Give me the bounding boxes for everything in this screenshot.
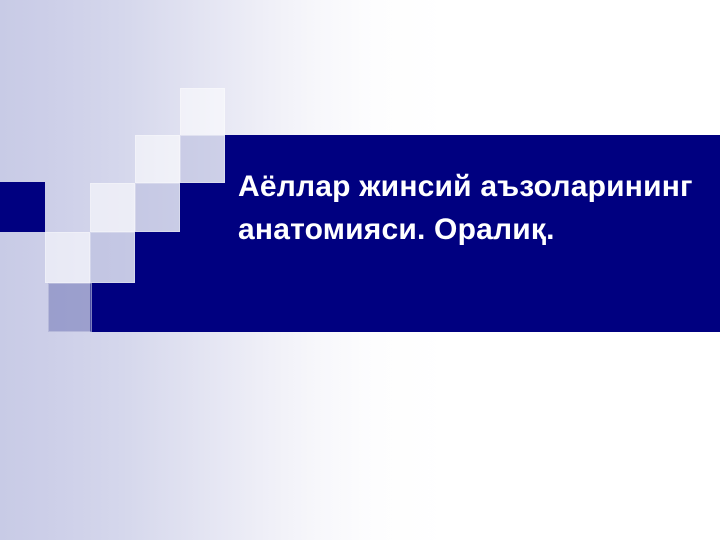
left-accent-block — [0, 182, 45, 232]
presentation-slide: Аёллар жинсий аъзоларининг анатомияси. О… — [0, 0, 720, 540]
banner-step-middle — [135, 232, 180, 332]
tile-top-light — [180, 88, 225, 136]
tile-mid-left-light — [90, 183, 135, 232]
tile-upper-mid-light — [135, 135, 180, 183]
tile-mid-right-violet — [135, 183, 180, 232]
banner-step-upper — [180, 183, 225, 332]
tile-upper-right-over — [180, 135, 225, 183]
tile-low-mid-violet — [90, 232, 135, 283]
tile-bottom-violet — [48, 283, 92, 332]
tile-low-left-light — [45, 232, 90, 283]
banner-step-lower — [90, 283, 135, 332]
slide-title: Аёллар жинсий аъзоларининг анатомияси. О… — [238, 165, 698, 251]
